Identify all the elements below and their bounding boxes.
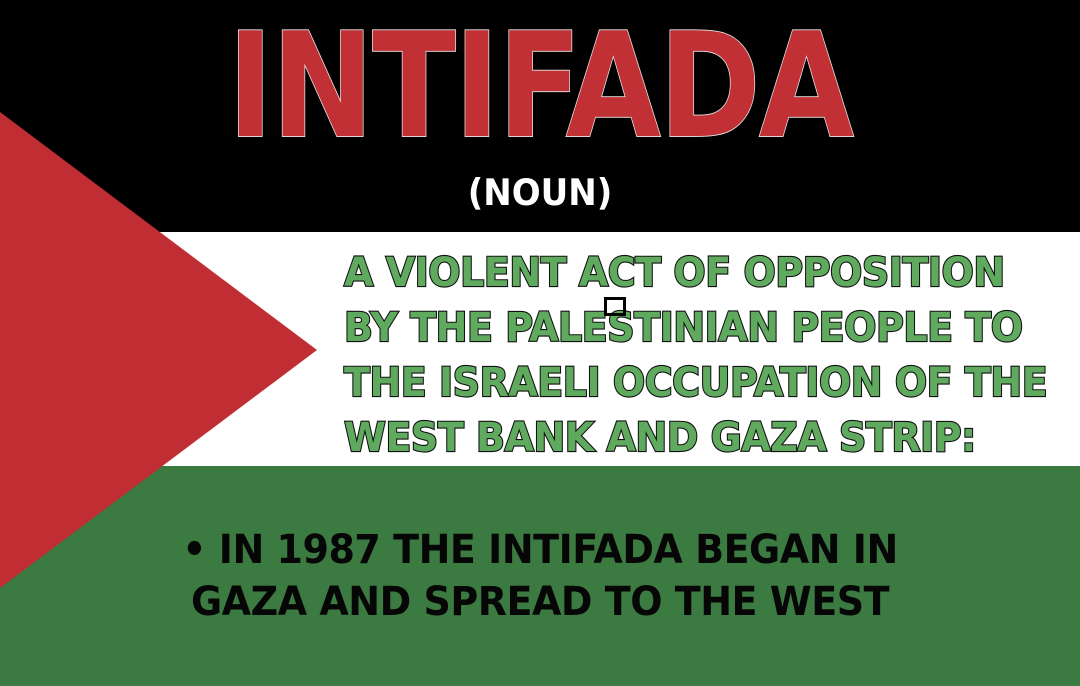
definition-line-4: WEST BANK AND GAZA STRIP: <box>344 411 1009 466</box>
definition-line-3: THE ISRAELI OCCUPATION OF THE <box>344 356 1009 411</box>
example-line-2: GAZA AND SPREAD TO THE WEST <box>27 576 1053 628</box>
definition-line-1: A VIOLENT ACT OF OPPOSITION <box>344 246 1009 301</box>
definition-poster: INTIFADA (NOUN) A VIOLENT ACT OF OPPOSIT… <box>0 0 1080 686</box>
definition-line-2: BY THE PALESTINIAN PEOPLE TO <box>344 301 1009 356</box>
example-line-1: • IN 1987 THE INTIFADA BEGAN IN <box>27 524 1053 576</box>
example-usage-block: • IN 1987 THE INTIFADA BEGAN IN GAZA AND… <box>0 524 1080 628</box>
subtitle-block: (NOUN) <box>0 176 1080 210</box>
definition-block: A VIOLENT ACT OF OPPOSITION BY THE PALES… <box>344 246 1044 466</box>
part-of-speech-label: (NOUN) <box>468 175 613 212</box>
missing-glyph-box-icon <box>604 297 626 316</box>
